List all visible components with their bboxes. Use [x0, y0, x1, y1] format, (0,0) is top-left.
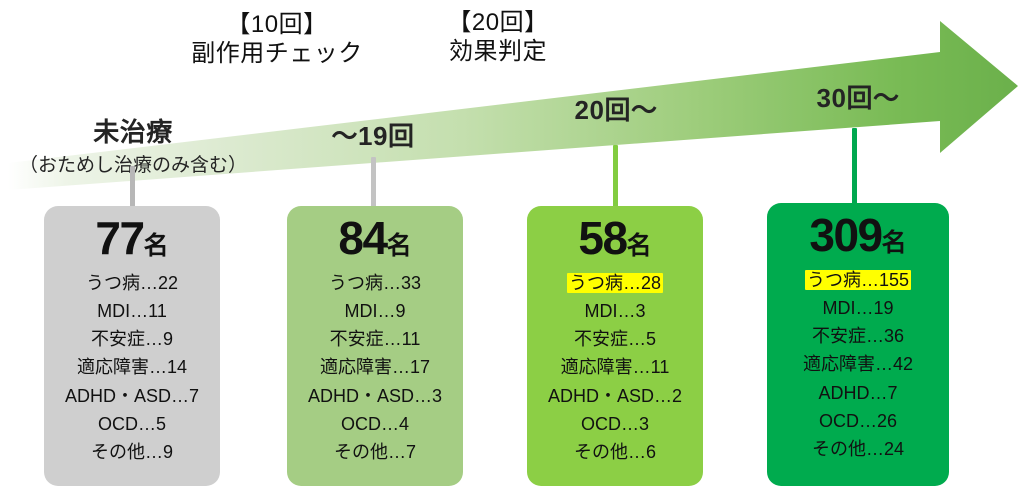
diagnosis-row: その他…6: [527, 438, 703, 466]
diagnosis-row: ADHD・ASD…3: [287, 382, 463, 410]
card-total: 58名: [527, 215, 703, 261]
diagnosis-row: OCD…3: [527, 410, 703, 438]
card-total: 309名: [767, 212, 949, 258]
stage-label-main: 〜19回: [283, 116, 463, 153]
card-total-number: 58: [578, 212, 626, 264]
stage-card-untreated[interactable]: 77名 うつ病…22MDI…11不安症…9適応障害…14ADHD・ASD…7OC…: [44, 206, 220, 486]
diagnosis-row: MDI…11: [44, 297, 220, 325]
milestone-title: 【10回】: [162, 10, 392, 39]
diagnosis-row: その他…9: [44, 438, 220, 466]
diagnosis-list: うつ病…155MDI…19不安症…36適応障害…42ADHD…7OCD…26その…: [767, 266, 949, 463]
card-total-number: 84: [338, 212, 386, 264]
milestone-annotation-20: 【20回】 効果判定: [398, 8, 598, 67]
diagnosis-row: 不安症…9: [44, 325, 220, 353]
diagnosis-row: ADHD・ASD…7: [44, 382, 220, 410]
diagnosis-row: OCD…5: [44, 410, 220, 438]
stage-card-from-30[interactable]: 309名 うつ病…155MDI…19不安症…36適応障害…42ADHD…7OCD…: [767, 203, 949, 486]
diagnosis-row: その他…24: [767, 435, 949, 463]
diagnosis-row: うつ病…155: [767, 266, 949, 294]
diagnosis-row: 適応障害…17: [287, 353, 463, 381]
diagnosis-row: うつ病…33: [287, 269, 463, 297]
card-total-unit: 名: [387, 232, 412, 260]
diagnosis-row: 不安症…36: [767, 322, 949, 350]
card-total-unit: 名: [627, 232, 652, 260]
connector-line-upto-19: [371, 157, 376, 207]
diagnosis-row: ADHD・ASD…2: [527, 382, 703, 410]
diagnosis-row: MDI…19: [767, 294, 949, 322]
diagnosis-list: うつ病…28MDI…3不安症…5適応障害…11ADHD・ASD…2OCD…3その…: [527, 269, 703, 466]
diagnosis-row: MDI…9: [287, 297, 463, 325]
infographic-canvas: 【10回】 副作用チェック 【20回】 効果判定 未治療 （おためし治療のみ含む…: [0, 0, 1024, 501]
card-total-number: 77: [95, 212, 143, 264]
connector-line-untreated: [130, 166, 135, 208]
stage-label-upto-19: 〜19回: [283, 116, 463, 153]
milestone-title: 【20回】: [398, 8, 598, 37]
diagnosis-row: うつ病…22: [44, 269, 220, 297]
diagnosis-row: 不安症…11: [287, 325, 463, 353]
diagnosis-row-highlighted: うつ病…28: [567, 273, 663, 293]
card-total: 84名: [287, 215, 463, 261]
stage-label-main: 20回〜: [527, 90, 705, 127]
diagnosis-list: うつ病…33MDI…9不安症…11適応障害…17ADHD・ASD…3OCD…4そ…: [287, 269, 463, 466]
stage-card-from-20[interactable]: 58名 うつ病…28MDI…3不安症…5適応障害…11ADHD・ASD…2OCD…: [527, 206, 703, 486]
diagnosis-row: 適応障害…42: [767, 350, 949, 378]
stage-label-main: 未治療: [8, 112, 258, 149]
diagnosis-row: 適応障害…14: [44, 353, 220, 381]
connector-line-from-20: [613, 145, 618, 207]
stage-label-from-20: 20回〜: [527, 90, 705, 127]
stage-label-from-30: 30回〜: [768, 78, 948, 115]
diagnosis-row: 不安症…5: [527, 325, 703, 353]
diagnosis-row: OCD…4: [287, 410, 463, 438]
diagnosis-row: うつ病…28: [527, 269, 703, 297]
milestone-annotation-10: 【10回】 副作用チェック: [162, 10, 392, 69]
connector-line-from-30: [852, 128, 857, 207]
diagnosis-row: その他…7: [287, 438, 463, 466]
card-total-unit: 名: [882, 229, 907, 257]
milestone-desc: 副作用チェック: [162, 39, 392, 68]
stage-label-main: 30回〜: [768, 78, 948, 115]
diagnosis-row: ADHD…7: [767, 379, 949, 407]
card-total: 77名: [44, 215, 220, 261]
diagnosis-row: OCD…26: [767, 407, 949, 435]
stage-card-upto-19[interactable]: 84名 うつ病…33MDI…9不安症…11適応障害…17ADHD・ASD…3OC…: [287, 206, 463, 486]
milestone-desc: 効果判定: [398, 37, 598, 66]
card-total-unit: 名: [144, 232, 169, 260]
card-total-number: 309: [809, 209, 881, 261]
diagnosis-list: うつ病…22MDI…11不安症…9適応障害…14ADHD・ASD…7OCD…5そ…: [44, 269, 220, 466]
diagnosis-row-highlighted: うつ病…155: [805, 270, 911, 290]
diagnosis-row: 適応障害…11: [527, 353, 703, 381]
diagnosis-row: MDI…3: [527, 297, 703, 325]
